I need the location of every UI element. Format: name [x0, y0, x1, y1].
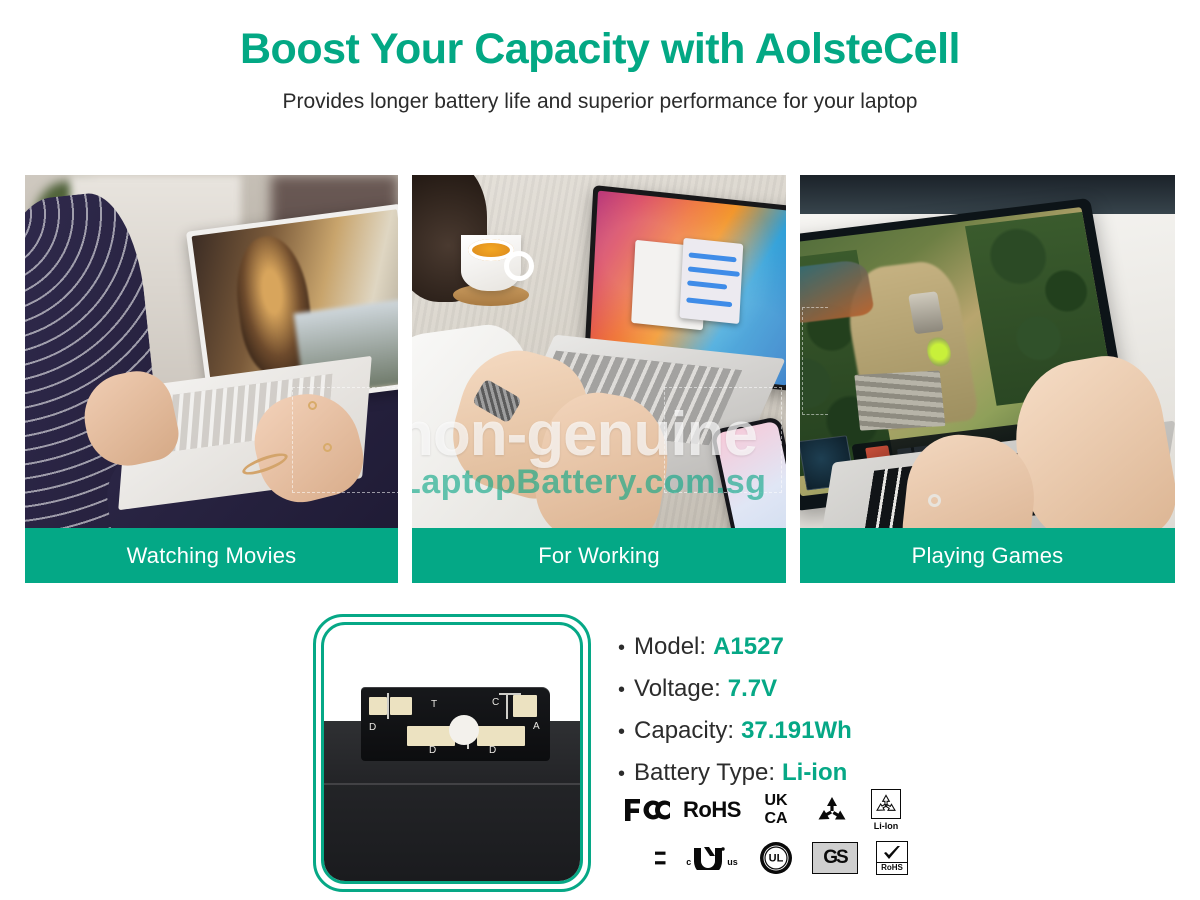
- li-ion-recycle-icon: Li-Ion: [860, 789, 912, 831]
- use-case-cards: Watching Movies: [25, 175, 1175, 583]
- spec-label: Battery Type:: [634, 758, 775, 788]
- connector-mark-t: T: [431, 699, 437, 710]
- gs-icon: GS: [804, 842, 866, 874]
- card-caption: Playing Games: [800, 528, 1175, 583]
- certification-row-1: RoHS UK CA: [618, 786, 918, 834]
- rohs-check-label: RoHS: [877, 862, 907, 872]
- product-image-frame: T C D D D A: [313, 614, 591, 892]
- spec-list: • Model: A1527 • Voltage: 7.7V • Capacit…: [618, 632, 1038, 800]
- spec-value: 37.191Wh: [741, 716, 852, 746]
- laptop-work-icon: non-genuine LaptopBattery.com.sg: [412, 175, 786, 528]
- spec-row-model: • Model: A1527: [618, 632, 1038, 662]
- card-caption: For Working: [412, 528, 786, 583]
- certification-row-2: c us UL: [618, 834, 918, 882]
- product-image: T C D D D A: [321, 622, 583, 884]
- bullet-icon: •: [618, 636, 625, 661]
- page-subtitle: Provides longer battery life and superio…: [0, 90, 1200, 114]
- bullet-icon: •: [618, 762, 625, 787]
- product-details-section: T C D D D A • Model: A1527 • Voltage: 7.…: [0, 614, 1200, 900]
- spec-value: Li-ion: [782, 758, 847, 788]
- spec-value: 7.7V: [728, 674, 777, 704]
- svg-text:UL: UL: [769, 853, 784, 865]
- ukca-icon: UK CA: [748, 792, 804, 828]
- rohs-icon: RoHS: [676, 797, 748, 823]
- laptop-movie-icon: [25, 175, 398, 528]
- spec-row-capacity: • Capacity: 37.191Wh: [618, 716, 1038, 746]
- cul-us-icon: c us: [676, 846, 748, 870]
- connector-mark-d-mid: D: [429, 745, 436, 756]
- rohs-check-icon: RoHS: [866, 841, 918, 875]
- connector-mark-d-right: D: [489, 745, 496, 756]
- recycle-icon: [804, 795, 860, 825]
- header: Boost Your Capacity with AolsteCell Prov…: [0, 0, 1200, 114]
- connector-mark-a: A: [533, 721, 540, 732]
- use-case-card-playing-games: Playing Games: [800, 175, 1175, 583]
- spec-row-voltage: • Voltage: 7.7V: [618, 674, 1038, 704]
- battery-connector: T C D D D A: [361, 687, 550, 761]
- spec-label: Capacity:: [634, 716, 734, 746]
- connector-mark-d-left: D: [369, 722, 376, 733]
- spec-label: Model:: [634, 632, 706, 662]
- use-case-card-for-working: non-genuine LaptopBattery.com.sg For Wor…: [412, 175, 786, 583]
- connector-mark-c: C: [492, 697, 499, 708]
- li-ion-label: Li-Ion: [874, 821, 899, 831]
- laptop-game-icon: [800, 175, 1175, 528]
- certification-badges: RoHS UK CA: [618, 786, 918, 882]
- promo-banner: Boost Your Capacity with AolsteCell Prov…: [0, 0, 1200, 900]
- spec-row-battery-type: • Battery Type: Li-ion: [618, 758, 1038, 788]
- spec-value: A1527: [713, 632, 784, 662]
- ce-icon: [618, 845, 676, 871]
- card-caption: Watching Movies: [25, 528, 398, 583]
- page-title: Boost Your Capacity with AolsteCell: [0, 26, 1200, 73]
- use-case-card-watching-movies: Watching Movies: [25, 175, 398, 583]
- bullet-icon: •: [618, 678, 625, 703]
- spec-label: Voltage:: [634, 674, 721, 704]
- bullet-icon: •: [618, 720, 625, 745]
- fcc-icon: [618, 797, 676, 823]
- ul-icon: UL: [748, 840, 804, 876]
